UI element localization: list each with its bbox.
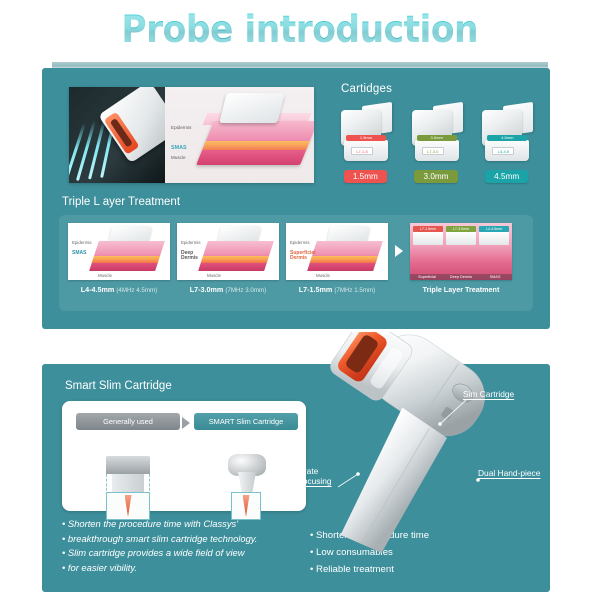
left-bullet-item: breakthrough smart slim cartridge techno… — [62, 532, 306, 547]
triple-layer-item: EpidermisDeepDermisMuscleL7-3.0mm (7MHz … — [177, 223, 279, 294]
left-bullet-item: Slim cartridge provides a wide field of … — [62, 546, 306, 561]
triple-layer-image: EpidermisSuperficialDermisMuscle — [286, 223, 388, 280]
general-focus-box — [106, 492, 150, 520]
triple-layer-caption: L7-1.5mm (7MHz 1.5mm) — [286, 285, 388, 294]
cartridge-item: 4.5mmL4-4.54.5mm — [479, 104, 534, 184]
triple-layer-heading: Triple L ayer Treatment — [62, 196, 180, 208]
smart-focus-box — [231, 492, 261, 520]
comparison-arrow-icon — [182, 417, 190, 429]
comparison-general: Generally used — [76, 413, 180, 500]
page-title: Probe introduction — [122, 8, 479, 52]
combo-cartridge: L7-3.0mm — [446, 226, 476, 245]
top-panel: Epidermis SMAS Muscle Cartidges 1.5mmL7-… — [42, 68, 550, 329]
left-bullet-item: for easier vibility. — [62, 561, 306, 576]
combo-layer-label: Superficial — [410, 274, 444, 280]
triple-layer-box: EpidermisSMASMuscleL4-4.5mm (4MHz 4.5mm)… — [59, 215, 533, 311]
general-cartridge-graphic — [106, 456, 150, 474]
triple-layer-item: EpidermisSMASMuscleL4-4.5mm (4MHz 4.5mm) — [68, 223, 170, 294]
page-title-wrap: Probe introduction — [0, 8, 600, 52]
callout-accurate-line2: Targot Focusing — [272, 476, 332, 486]
cartridge-item: 3.0mmL7-3.03.0mm — [409, 104, 464, 184]
callout-slim-cartridge: Sim Cartridge — [463, 389, 514, 399]
combo-layer-label: SMAS — [478, 274, 512, 280]
callout-slim-cartridge-label: Sim Cartridge — [463, 389, 514, 399]
cartridge-on-skin-graphic — [219, 93, 284, 123]
cartridge-item: 1.5mmL7-1.51.5mm — [338, 104, 393, 184]
callout-accurate-focusing: Accurate Targot Focusing — [272, 466, 332, 486]
triple-layer-caption: L4-4.5mm (4MHz 4.5mm) — [68, 285, 170, 294]
left-bullet-list: Shorten the procedure time with Classys'… — [62, 517, 306, 575]
cartridge-image: 1.5mmL7-1.5 — [338, 104, 393, 166]
combo-cartridge: L4-4.5mm — [479, 226, 509, 245]
general-used-label: Generally used — [76, 413, 180, 430]
probe-beam-photo — [69, 87, 165, 183]
combo-layer-label: Deep Dermis — [444, 274, 478, 280]
triple-layer-item: EpidermisSuperficialDermisMuscleL7-1.5mm… — [286, 223, 388, 294]
callout-dual-handpiece-label: Dual Hand-piece — [478, 468, 540, 478]
combo-cartridge: L7-1.5mm — [413, 226, 443, 245]
hero-label-muscle: Muscle — [171, 155, 186, 160]
cartridge-image: 3.0mmL7-3.0 — [409, 104, 464, 166]
cartridge-row: 1.5mmL7-1.51.5mm3.0mmL7-3.03.0mm4.5mmL4-… — [338, 104, 534, 184]
cartridge-comparison-card: Generally used SMART Slim Cartridge — [62, 401, 306, 511]
cartridge-depth-badge: 4.5mm — [485, 170, 528, 183]
comparison-smart: SMART Slim Cartridge — [194, 413, 298, 500]
hero-label-smas: SMAS — [171, 145, 187, 151]
smart-slim-label: SMART Slim Cartridge — [194, 413, 298, 430]
hero-image: Epidermis SMAS Muscle — [69, 87, 314, 183]
triple-layer-image: EpidermisSMASMuscle — [68, 223, 170, 280]
triple-layer-arrow-icon — [395, 245, 403, 257]
combo-caption: Triple Layer Treatment — [410, 285, 512, 294]
combo-image: L7-1.5mmL7-3.0mmL4-4.5mmSuperficialDeep … — [410, 223, 512, 280]
triple-layer-caption: L7-3.0mm (7MHz 3.0mm) — [177, 285, 279, 294]
slide-root: Probe introduction Epidermis SMAS Muscl — [0, 0, 600, 600]
callout-dual-handpiece: Dual Hand-piece — [478, 468, 540, 478]
triple-layer-row: EpidermisSMASMuscleL4-4.5mm (4MHz 4.5mm)… — [59, 215, 533, 294]
skin-cross-section-photo: Epidermis SMAS Muscle — [165, 87, 314, 183]
cartridge-depth-badge: 3.0mm — [414, 170, 457, 183]
cartridges-heading: Cartidges — [341, 83, 392, 95]
cartridge-depth-badge: 1.5mm — [344, 170, 387, 183]
smart-slim-heading: Smart Slim Cartridge — [65, 380, 172, 392]
hero-label-epidermis: Epidermis — [171, 125, 191, 130]
left-bullet-item: Shorten the procedure time with Classys' — [62, 517, 306, 532]
triple-layer-combo-item: L7-1.5mmL7-3.0mmL4-4.5mmSuperficialDeep … — [410, 223, 512, 294]
triple-layer-image: EpidermisDeepDermisMuscle — [177, 223, 279, 280]
callout-accurate-line1: Accurate — [285, 466, 318, 476]
cartridge-image: 4.5mmL4-4.5 — [479, 104, 534, 166]
